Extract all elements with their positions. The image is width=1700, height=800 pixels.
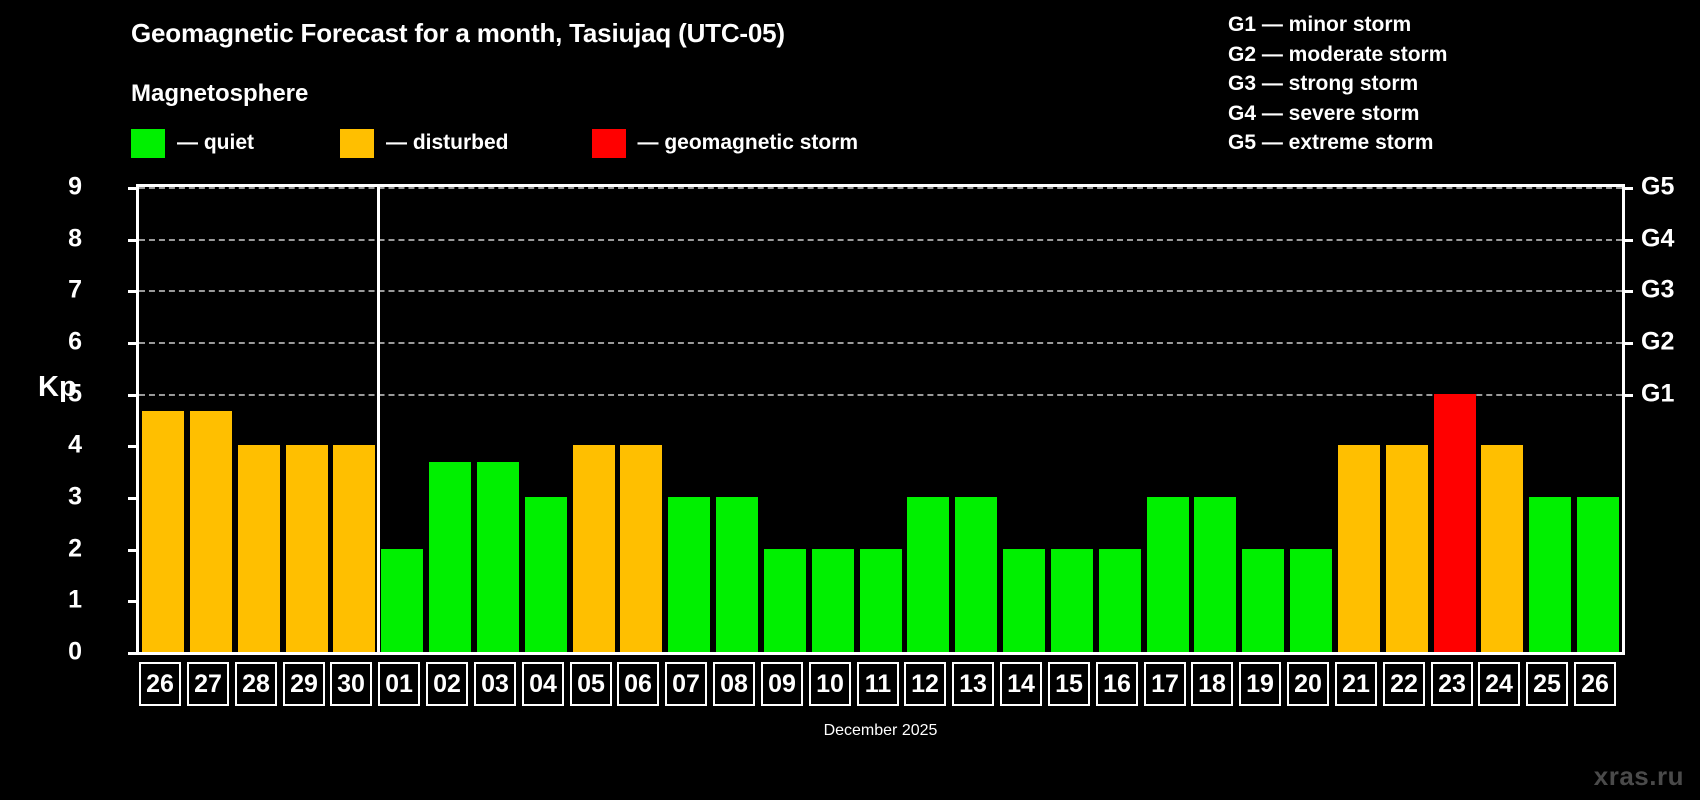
plot-area: [136, 184, 1625, 655]
bar-day-11[interactable]: [860, 549, 902, 652]
x-axis-day-12[interactable]: 08: [713, 662, 755, 706]
x-axis-day-24[interactable]: 20: [1287, 662, 1329, 706]
storm-scale-line-g3: G3 — strong storm: [1228, 69, 1447, 99]
bar-day-19[interactable]: [1242, 549, 1284, 652]
geomagnetic-forecast-chart: Geomagnetic Forecast for a month, Tasiuj…: [0, 0, 1700, 800]
storm-scale-line-g2: G2 — moderate storm: [1228, 40, 1447, 70]
x-axis-day-22[interactable]: 18: [1191, 662, 1233, 706]
x-axis-day-6[interactable]: 02: [426, 662, 468, 706]
storm-scale-line-g1: G1 — minor storm: [1228, 10, 1447, 40]
y-tick-label-1: 1: [42, 586, 82, 615]
x-axis-day-28[interactable]: 24: [1478, 662, 1520, 706]
magnetosphere-label: Magnetosphere: [131, 80, 308, 108]
g-tick-label-G4: G4: [1641, 224, 1674, 253]
x-axis-day-10[interactable]: 06: [617, 662, 659, 706]
x-axis-day-0[interactable]: 26: [139, 662, 181, 706]
legend-swatch-quiet-icon: [131, 129, 165, 158]
bar-day-22[interactable]: [1386, 445, 1428, 652]
bar-day-05[interactable]: [573, 445, 615, 652]
x-axis-day-14[interactable]: 10: [809, 662, 851, 706]
x-axis-day-16[interactable]: 12: [904, 662, 946, 706]
legend: — quiet — disturbed — geomagnetic storm: [131, 128, 858, 158]
x-axis-day-4[interactable]: 30: [330, 662, 372, 706]
gridline-kp-7: [139, 290, 1622, 292]
x-axis-day-29[interactable]: 25: [1526, 662, 1568, 706]
x-axis-day-9[interactable]: 05: [570, 662, 612, 706]
g-tick-label-G1: G1: [1641, 379, 1674, 408]
bar-day-14[interactable]: [1003, 549, 1045, 652]
g-tick-label-G2: G2: [1641, 328, 1674, 357]
forecast-divider: [377, 187, 380, 652]
bar-day-17[interactable]: [1147, 497, 1189, 652]
x-axis-title-wrap: December 2025: [136, 722, 1625, 740]
x-axis-day-27[interactable]: 23: [1431, 662, 1473, 706]
gridline-kp-6: [139, 342, 1622, 344]
bar-day-07[interactable]: [668, 497, 710, 652]
y-tick-label-3: 3: [42, 483, 82, 512]
storm-scale-legend: G1 — minor storm G2 — moderate storm G3 …: [1228, 10, 1447, 158]
storm-scale-line-g4: G4 — severe storm: [1228, 99, 1447, 129]
bar-day-13[interactable]: [955, 497, 997, 652]
x-axis-day-5[interactable]: 01: [378, 662, 420, 706]
bar-day-09[interactable]: [764, 549, 806, 652]
bar-day-23[interactable]: [1434, 394, 1476, 652]
bar-day-15[interactable]: [1051, 549, 1093, 652]
y-tick-label-6: 6: [42, 328, 82, 357]
bar-day-10[interactable]: [812, 549, 854, 652]
x-axis-day-15[interactable]: 11: [857, 662, 899, 706]
bar-day-24[interactable]: [1481, 445, 1523, 652]
page-title: Geomagnetic Forecast for a month, Tasiuj…: [131, 18, 785, 49]
plot-inner: [139, 187, 1622, 652]
x-axis-day-8[interactable]: 04: [522, 662, 564, 706]
legend-label-disturbed: — disturbed: [386, 131, 509, 155]
bar-day-28[interactable]: [238, 445, 280, 652]
bar-day-26[interactable]: [1577, 497, 1619, 652]
bar-day-01[interactable]: [381, 549, 423, 652]
x-axis-day-2[interactable]: 28: [235, 662, 277, 706]
bar-day-12[interactable]: [907, 497, 949, 652]
bar-day-30[interactable]: [333, 445, 375, 652]
legend-item-disturbed: — disturbed: [340, 129, 509, 158]
x-axis-day-7[interactable]: 03: [474, 662, 516, 706]
g-tick-label-G5: G5: [1641, 173, 1674, 202]
bar-day-26[interactable]: [142, 411, 184, 652]
x-axis-day-19[interactable]: 15: [1048, 662, 1090, 706]
y-tick-label-2: 2: [42, 534, 82, 563]
x-axis-day-3[interactable]: 29: [283, 662, 325, 706]
x-axis-day-18[interactable]: 14: [1000, 662, 1042, 706]
watermark: xras.ru: [1594, 761, 1684, 792]
bar-day-08[interactable]: [716, 497, 758, 652]
y-tick-label-8: 8: [42, 224, 82, 253]
legend-item-storm: — geomagnetic storm: [592, 129, 859, 158]
y-tick-label-9: 9: [42, 173, 82, 202]
x-axis-day-17[interactable]: 13: [952, 662, 994, 706]
bar-day-18[interactable]: [1194, 497, 1236, 652]
bar-day-20[interactable]: [1290, 549, 1332, 652]
y-tick-label-7: 7: [42, 276, 82, 305]
y-tick-label-4: 4: [42, 431, 82, 460]
x-axis-day-25[interactable]: 21: [1335, 662, 1377, 706]
gridline-kp-9: [139, 187, 1622, 189]
y-tick-label-0: 0: [42, 638, 82, 667]
bar-day-27[interactable]: [190, 411, 232, 652]
legend-item-quiet: — quiet: [131, 129, 254, 158]
x-axis-day-26[interactable]: 22: [1383, 662, 1425, 706]
legend-label-storm: — geomagnetic storm: [638, 131, 859, 155]
g-tick-label-G3: G3: [1641, 276, 1674, 305]
legend-label-quiet: — quiet: [177, 131, 254, 155]
x-axis-day-labels: 2627282930010203040506070809101112131415…: [136, 662, 1625, 706]
gridline-kp-8: [139, 239, 1622, 241]
y-tick-label-5: 5: [42, 379, 82, 408]
x-axis-day-20[interactable]: 16: [1096, 662, 1138, 706]
bar-day-21[interactable]: [1338, 445, 1380, 652]
x-axis-day-21[interactable]: 17: [1144, 662, 1186, 706]
bar-day-29[interactable]: [286, 445, 328, 652]
x-axis-title: December 2025: [824, 722, 938, 739]
x-axis-day-11[interactable]: 07: [665, 662, 707, 706]
bar-day-06[interactable]: [620, 445, 662, 652]
legend-swatch-disturbed-icon: [340, 129, 374, 158]
bar-day-25[interactable]: [1529, 497, 1571, 652]
x-axis-day-13[interactable]: 09: [761, 662, 803, 706]
bar-day-03[interactable]: [477, 462, 519, 652]
x-axis-day-30[interactable]: 26: [1574, 662, 1616, 706]
bar-day-04[interactable]: [525, 497, 567, 652]
x-axis-day-1[interactable]: 27: [187, 662, 229, 706]
storm-scale-line-g5: G5 — extreme storm: [1228, 128, 1447, 158]
gridline-kp-5: [139, 394, 1622, 396]
legend-swatch-storm-icon: [592, 129, 626, 158]
bar-day-02[interactable]: [429, 462, 471, 652]
bar-day-16[interactable]: [1099, 549, 1141, 652]
x-axis-day-23[interactable]: 19: [1239, 662, 1281, 706]
